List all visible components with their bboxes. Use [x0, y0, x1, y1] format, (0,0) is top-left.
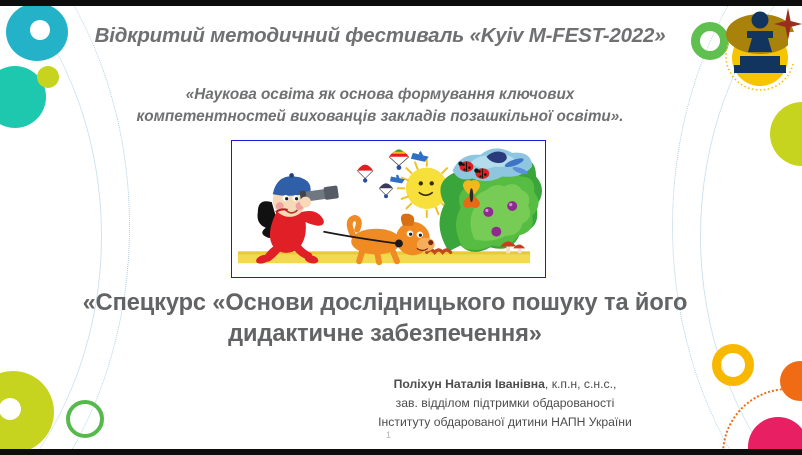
letterbox-bar-bottom	[0, 449, 802, 455]
lime-circle-bottom-icon	[0, 371, 54, 449]
teal-circle-icon	[6, 6, 68, 61]
institute-logo-icon	[716, 6, 802, 96]
dotted-arc-left-icon	[0, 6, 130, 449]
page-title: Відкритий методичний фестиваль «Kyiv M-F…	[60, 24, 700, 48]
slide-subtitle: «Наукова освіта як основа формування клю…	[70, 84, 690, 128]
author-position: зав. відділом підтримки обдарованості	[300, 394, 710, 413]
author-name: Поліхун Наталія Іванівна	[394, 377, 545, 391]
green-ring-icon	[66, 400, 104, 438]
main-title: «Спецкурс «Основи дослідницького пошуку …	[55, 288, 715, 350]
lime-circle-bottom-hole-icon	[0, 398, 21, 420]
presentation-slide: Відкритий методичний фестиваль «Kyiv M-F…	[0, 0, 802, 455]
author-name-line: Поліхун Наталія Іванівна, к.п.н, с.н.с.,	[300, 375, 710, 394]
lime-dot-icon	[37, 66, 59, 88]
main-title-line-2: дидактичне забезпечення»	[228, 321, 542, 347]
lime-circle-right-icon	[770, 102, 802, 166]
orange-circle-icon	[780, 361, 802, 401]
author-institution: Інституту обдарованої дитини НАПН Україн…	[300, 413, 710, 432]
pink-circle-icon	[748, 417, 802, 449]
teal-circle-hole-icon	[30, 20, 50, 40]
thin-arc-left-icon	[0, 6, 102, 449]
slide-canvas: Відкритий методичний фестиваль «Kyiv M-F…	[0, 6, 802, 449]
subtitle-line-2: компетентностей вихованців закладів поза…	[70, 106, 690, 128]
author-credits: Поліхун Наталія Іванівна, к.п.н, с.н.с.,…	[300, 375, 710, 432]
illustration-image	[231, 140, 546, 278]
subtitle-line-1: «Наукова освіта як основа формування клю…	[186, 86, 575, 103]
page-number: 1	[386, 430, 391, 440]
author-degrees: , к.п.н, с.н.с.,	[545, 377, 616, 391]
main-title-line-1: «Спецкурс «Основи дослідницького пошуку …	[83, 290, 688, 316]
orange-dotted-ring-icon	[722, 388, 802, 449]
gold-ring-icon	[712, 344, 754, 386]
turquoise-circle-icon	[0, 66, 46, 128]
